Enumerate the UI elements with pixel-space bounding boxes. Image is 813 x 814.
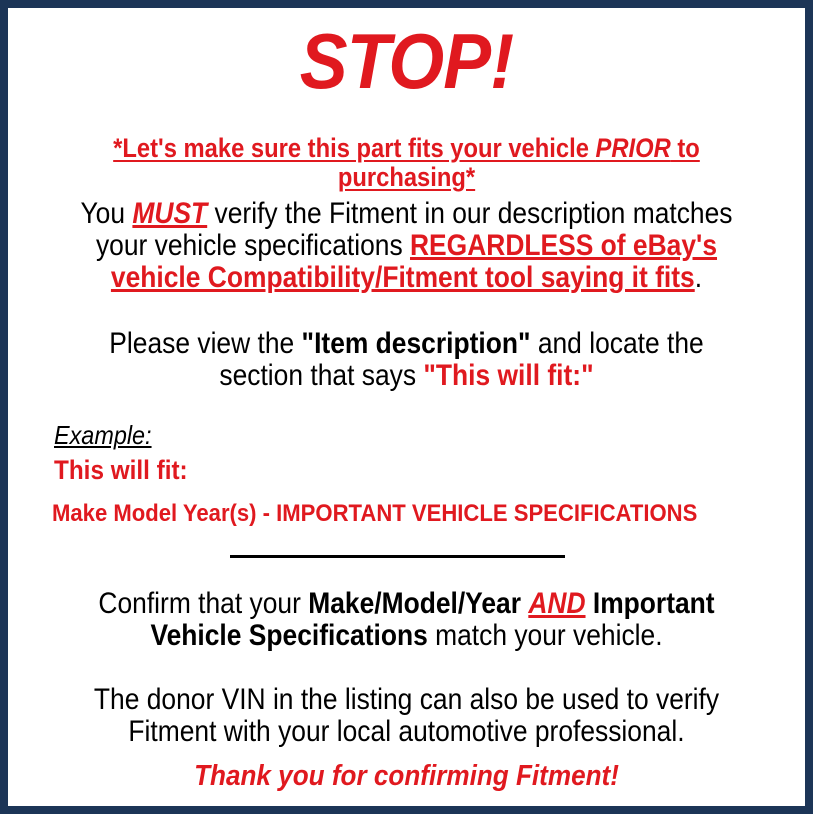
view-text-1: Please view the [109, 327, 301, 360]
tagline-before: *Let's make sure this part fits your veh… [113, 133, 595, 163]
must-text-1: You [81, 197, 133, 230]
stop-headline: STOP! [40, 16, 773, 107]
confirm-text-2: match your vehicle. [428, 619, 663, 652]
example-label: Example: [54, 420, 710, 451]
confirm-space [521, 587, 528, 620]
notice-card: STOP! *Let's make sure this part fits yo… [8, 8, 805, 806]
example-spec-line: Make Model Year(s) - IMPORTANT VEHICLE S… [52, 500, 697, 528]
tagline-emphasis: PRIOR [596, 133, 671, 163]
notice-body: STOP! *Let's make sure this part fits yo… [8, 8, 805, 806]
paragraph-confirm: Confirm that your Make/Model/Year AND Im… [75, 588, 738, 652]
closing-thanks: Thank you for confirming Fitment! [48, 760, 765, 793]
example-block: Example: This will fit: [54, 420, 783, 486]
paragraph-must-verify: You MUST verify the Fitment in our descr… [75, 198, 738, 293]
item-description-emphasis: "Item description" [302, 327, 531, 360]
section-divider [230, 555, 565, 558]
and-emphasis: AND [528, 587, 585, 620]
example-will-fit-heading: This will fit: [54, 455, 710, 486]
paragraph-view-description: Please view the "Item description" and l… [75, 328, 738, 392]
make-model-year-emphasis: Make/Model/Year [308, 587, 521, 620]
paragraph-donor-vin: The donor VIN in the listing can also be… [75, 684, 738, 748]
must-text-3: . [695, 261, 702, 294]
tagline: *Let's make sure this part fits your veh… [56, 134, 757, 191]
must-emphasis: MUST [132, 197, 207, 230]
confirm-text-1: Confirm that your [98, 587, 308, 620]
this-will-fit-quote: "This will fit:" [423, 359, 593, 392]
